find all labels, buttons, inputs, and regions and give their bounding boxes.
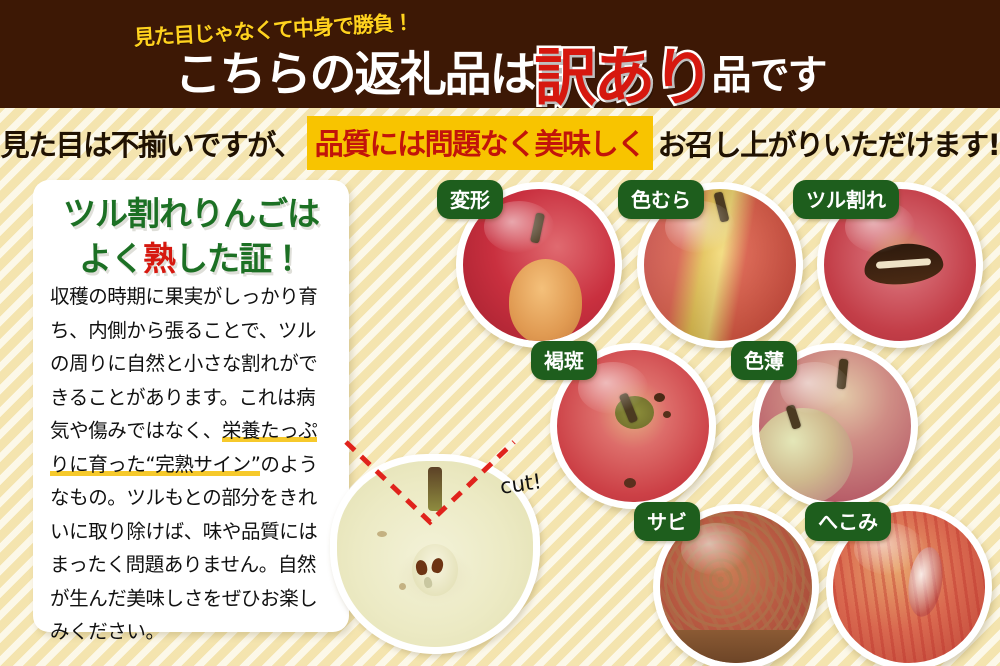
subtitle-highlight: 品質には問題なく美味しく xyxy=(307,116,653,170)
info-card-body: 収穫の時期に果実がしっかり育ち、内側から張ることで、ツルの周りに自然と小さな割れ… xyxy=(50,280,334,649)
headline-prefix: こちらの返礼品は xyxy=(174,48,534,103)
flesh-blemish xyxy=(399,583,406,590)
headline-suffix: 品です xyxy=(712,53,826,99)
card-title-line1: ツル割れりんごは xyxy=(63,194,319,233)
apple-stem xyxy=(428,467,442,511)
badge-sabi: サビ xyxy=(634,502,700,541)
badge-iromura: 色むら xyxy=(618,180,704,219)
apple-seed xyxy=(430,557,444,574)
badge-hekomi: へこみ xyxy=(805,502,891,541)
cut-label: cut! xyxy=(499,469,543,499)
card-title-line2-a: よく xyxy=(79,239,143,278)
promo-banner: 見た目じゃなくて中身で勝負！ こちらの返礼品は訳あり品です 見た目は不揃いですが… xyxy=(0,0,1000,666)
subtitle-band: 見た目は不揃いですが、品質には問題なく美味しくお召し上がりいただけます! xyxy=(0,112,1000,174)
apple-core xyxy=(412,544,458,596)
body-part-3: “完熟サイン” xyxy=(146,453,261,476)
card-title-line2-emphasis: 熟 xyxy=(143,239,175,278)
apple-seed xyxy=(423,576,433,588)
subtitle-prefix: 見た目は不揃いですが、 xyxy=(1,122,302,164)
apple-seed xyxy=(415,559,429,576)
badge-tsuruware: ツル割れ xyxy=(793,180,899,219)
badge-irousu: 色薄 xyxy=(731,341,797,380)
headline-emphasis: 訳あり xyxy=(534,41,711,109)
badge-kappan: 褐斑 xyxy=(531,341,597,380)
info-card: ツル割れりんごは よく熟した証！ 収穫の時期に果実がしっかり育ち、内側から張るこ… xyxy=(33,180,349,632)
badge-henkei: 変形 xyxy=(437,180,503,219)
banner-header: 見た目じゃなくて中身で勝負！ こちらの返礼品は訳あり品です xyxy=(0,0,1000,108)
flesh-blemish xyxy=(377,531,387,537)
subtitle-suffix: お召し上がりいただけます! xyxy=(658,122,1000,164)
info-card-title: ツル割れりんごは よく熟した証！ xyxy=(33,194,349,284)
cut-apple-illustration: cut! xyxy=(318,436,548,641)
header-headline: こちらの返礼品は訳あり品です xyxy=(0,45,1000,107)
card-title-line2-c: した証！ xyxy=(175,239,303,278)
body-part-4: のようなもの。ツルもとの部分をきれいに取り除けば、味や品質にはまったく問題ありま… xyxy=(50,453,318,644)
